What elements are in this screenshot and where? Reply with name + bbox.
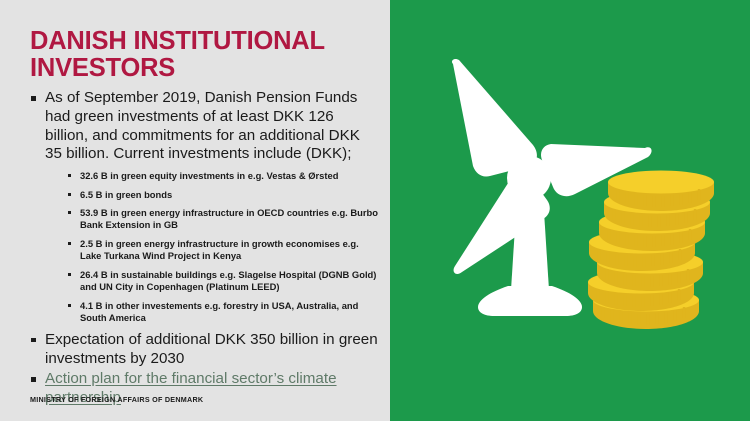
sub-bullet-text: 4.1 B in other investements e.g. forestr…: [80, 300, 358, 323]
sub-bullet-item: 53.9 B in green energy infrastructure in…: [67, 207, 378, 231]
page-title: Danish Institutional Investors: [30, 28, 360, 82]
coin: [608, 171, 714, 212]
square-bullet-icon: [68, 211, 71, 214]
main-bullet-1-text: As of September 2019, Danish Pension Fun…: [45, 89, 360, 162]
square-bullet-icon: [68, 193, 71, 196]
sub-bullet-item: 6.5 B in green bonds: [67, 189, 378, 201]
main-bullet-1: As of September 2019, Danish Pension Fun…: [30, 89, 378, 324]
wind-turbine-and-coins-illustration: [390, 0, 750, 421]
sub-bullet-text: 53.9 B in green energy infrastructure in…: [80, 207, 378, 230]
content-panel: Danish Institutional Investors As of Sep…: [0, 0, 390, 421]
sub-bullet-item: 2.5 B in green energy infrastructure in …: [67, 238, 378, 262]
square-bullet-icon: [31, 338, 36, 343]
illustration-panel: [390, 0, 750, 421]
sub-bullet-text: 2.5 B in green energy infrastructure in …: [80, 238, 359, 261]
sub-bullet-list: 32.6 B in green equity investments in e.…: [45, 170, 378, 324]
square-bullet-icon: [31, 377, 36, 382]
sub-bullet-item: 4.1 B in other investements e.g. forestr…: [67, 300, 378, 324]
square-bullet-icon: [68, 304, 71, 307]
main-bullet-list: As of September 2019, Danish Pension Fun…: [30, 89, 378, 408]
sub-bullet-text: 6.5 B in green bonds: [80, 189, 172, 200]
coin-stack-icon: [588, 171, 714, 330]
square-bullet-icon: [31, 96, 36, 101]
slide: Danish Institutional Investors As of Sep…: [0, 0, 750, 421]
sub-bullet-text: 32.6 B in green equity investments in e.…: [80, 170, 338, 181]
main-bullet-2: Expectation of additional DKK 350 billio…: [30, 331, 378, 369]
square-bullet-icon: [68, 242, 71, 245]
sub-bullet-item: 32.6 B in green equity investments in e.…: [67, 170, 378, 182]
square-bullet-icon: [68, 174, 71, 177]
square-bullet-icon: [68, 273, 71, 276]
sub-bullet-text: 26.4 B in sustainable buildings e.g. Sla…: [80, 269, 376, 292]
main-bullet-2-text: Expectation of additional DKK 350 billio…: [45, 331, 378, 367]
sub-bullet-item: 26.4 B in sustainable buildings e.g. Sla…: [67, 269, 378, 293]
ministry-footer: MINISTRY OF FOREIGN AFFAIRS OF DENMARK: [30, 395, 203, 404]
